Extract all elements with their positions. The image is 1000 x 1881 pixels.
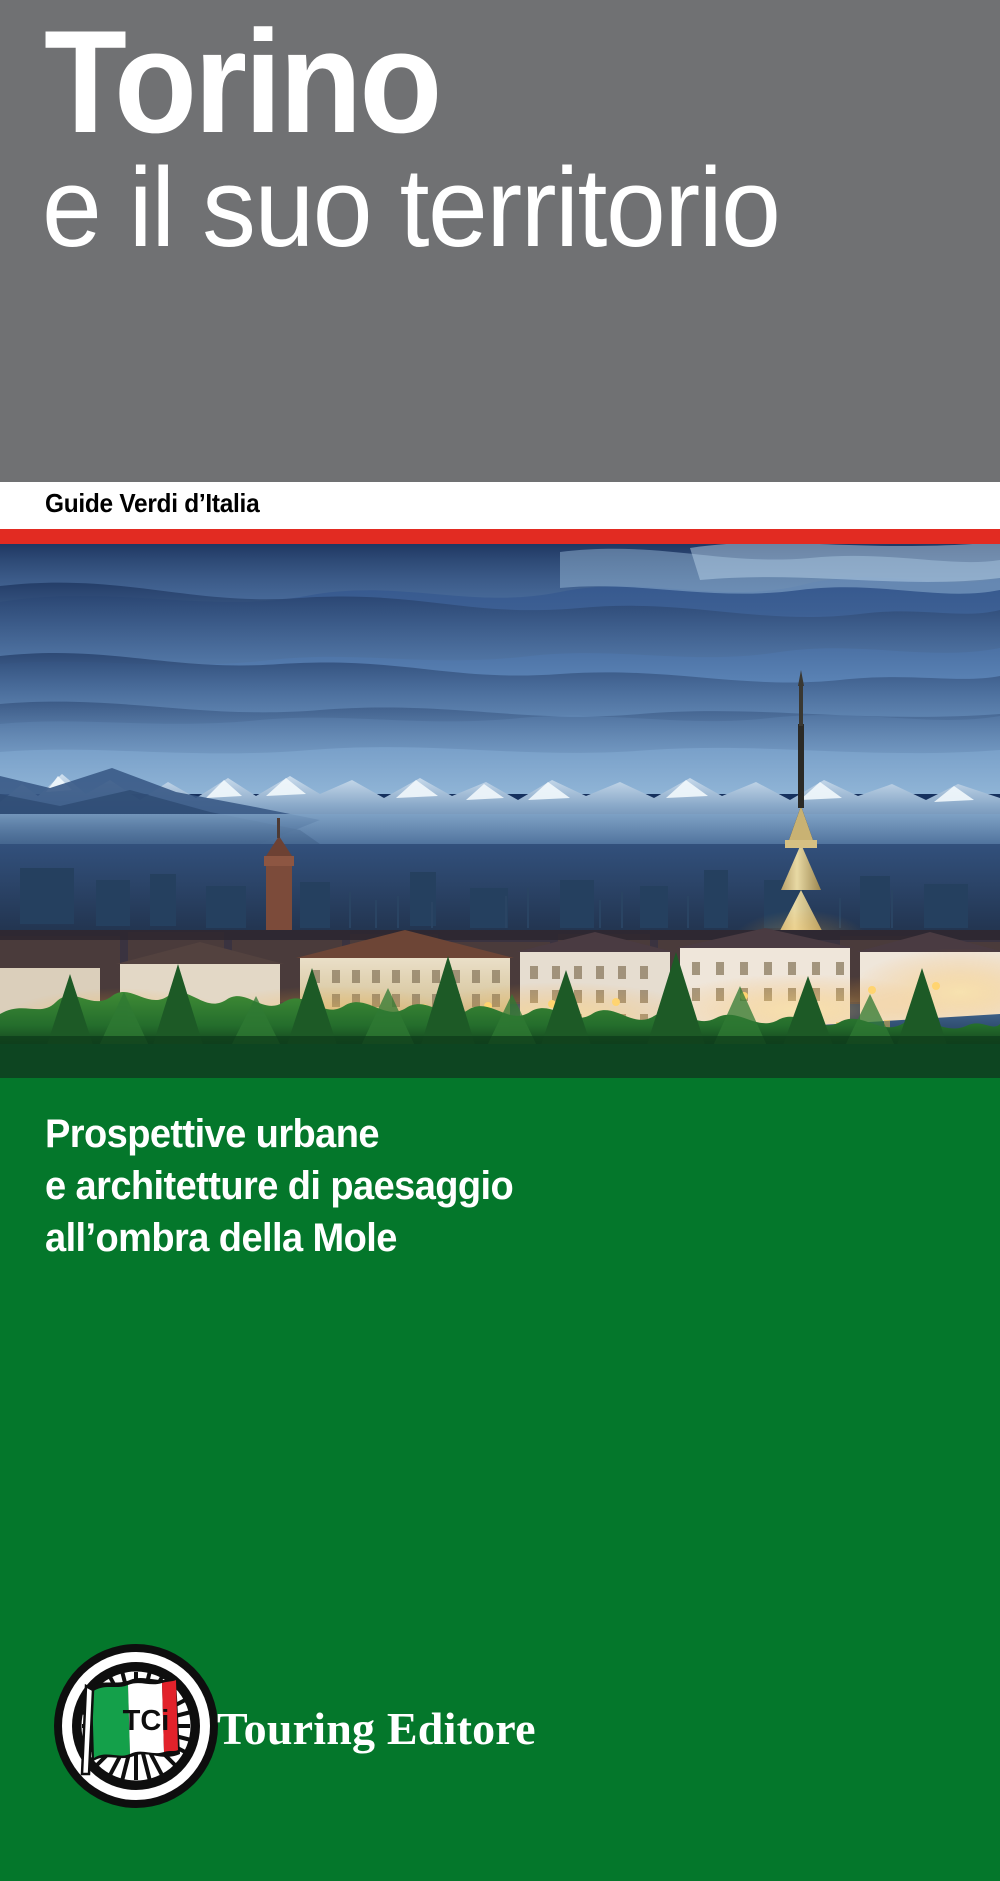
- turin-skyline-illustration: [0, 544, 1000, 1048]
- page-title: Torino: [44, 8, 440, 157]
- series-label: Guide Verdi d’Italia: [45, 488, 259, 519]
- publisher-row: TCi Touring Editore: [52, 1642, 752, 1812]
- tci-logo-icon: TCi: [52, 1642, 220, 1810]
- tci-logo-text: TCi: [123, 1705, 170, 1737]
- cover-tagline: Prospettive urbane e architetture di pae…: [45, 1108, 900, 1264]
- touring-club-italiano-emblem: TCi: [52, 1642, 220, 1810]
- tagline-line-2: e architetture di paesaggio: [45, 1160, 900, 1212]
- publisher-name: Touring Editore: [217, 1702, 536, 1755]
- red-divider: [0, 529, 1000, 544]
- title-band: Torino e il suo territorio: [0, 0, 1000, 482]
- page-subtitle: e il suo territorio: [42, 152, 780, 264]
- book-cover: Torino e il suo territorio Guide Verdi d…: [0, 0, 1000, 1881]
- tagline-line-1: Prospettive urbane: [45, 1108, 900, 1160]
- green-transition-band: [0, 1044, 1000, 1078]
- tagline-line-3: all’ombra della Mole: [45, 1212, 900, 1264]
- cover-photo: [0, 544, 1000, 1048]
